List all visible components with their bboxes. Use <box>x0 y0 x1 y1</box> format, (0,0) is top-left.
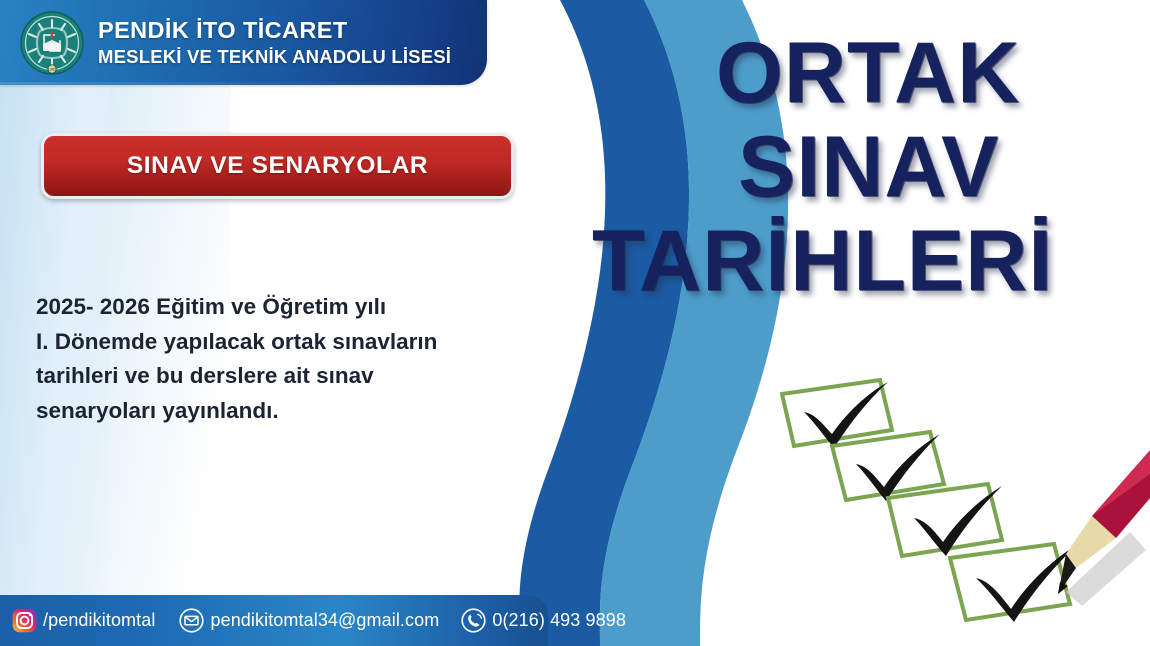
header-bar: 1965 PENDİK İTO TİCARET MESLEKİ VE TEKNİ… <box>0 0 487 85</box>
school-title: PENDİK İTO TİCARET <box>98 19 451 43</box>
school-emblem-icon: 1965 <box>20 11 84 75</box>
headline-line-1: ORTAK <box>716 24 1020 123</box>
checkbox-item-3 <box>888 484 1002 556</box>
checkbox-item-4 <box>950 544 1078 622</box>
announcement-text: 2025- 2026 Eğitim ve Öğretim yılı I. Dön… <box>36 290 536 429</box>
instagram-contact[interactable]: /pendikitomtal <box>12 608 155 633</box>
announcement-line-3: tarihleri ve bu derslere ait sınav <box>36 359 536 394</box>
phone-number: 0(216) 493 9898 <box>492 610 626 631</box>
announcement-line-4: senaryoları yayınlandı. <box>36 394 536 429</box>
phone-icon <box>461 608 486 633</box>
announcement-line-2: I. Dönemde yapılacak ortak sınavların <box>36 325 536 360</box>
headline-line-3: TARİHLERİ <box>592 212 1053 311</box>
email-address: pendikitomtal34@gmail.com <box>210 610 439 631</box>
svg-text:1965: 1965 <box>48 67 57 71</box>
headline-line-2: SINAV <box>738 118 999 217</box>
instagram-icon <box>12 608 37 633</box>
email-contact[interactable]: pendikitomtal34@gmail.com <box>179 608 439 633</box>
poster-canvas: ORTAK SINAV TARİHLERİ <box>0 0 1150 646</box>
announcement-line-1: 2025- 2026 Eğitim ve Öğretim yılı <box>36 290 536 325</box>
envelope-icon <box>179 608 204 633</box>
button-label: SINAV VE SENARYOLAR <box>127 152 428 180</box>
checklist-with-pencil-illustration <box>770 368 1150 646</box>
sinav-ve-senaryolar-button[interactable]: SINAV VE SENARYOLAR <box>41 133 514 199</box>
phone-contact[interactable]: 0(216) 493 9898 <box>461 608 626 633</box>
contact-footer-bar: /pendikitomtal pendikitomtal34@gmail.com… <box>0 595 548 646</box>
school-subtitle: MESLEKİ VE TEKNİK ANADOLU LİSESİ <box>98 48 451 67</box>
instagram-handle: /pendikitomtal <box>43 610 155 631</box>
